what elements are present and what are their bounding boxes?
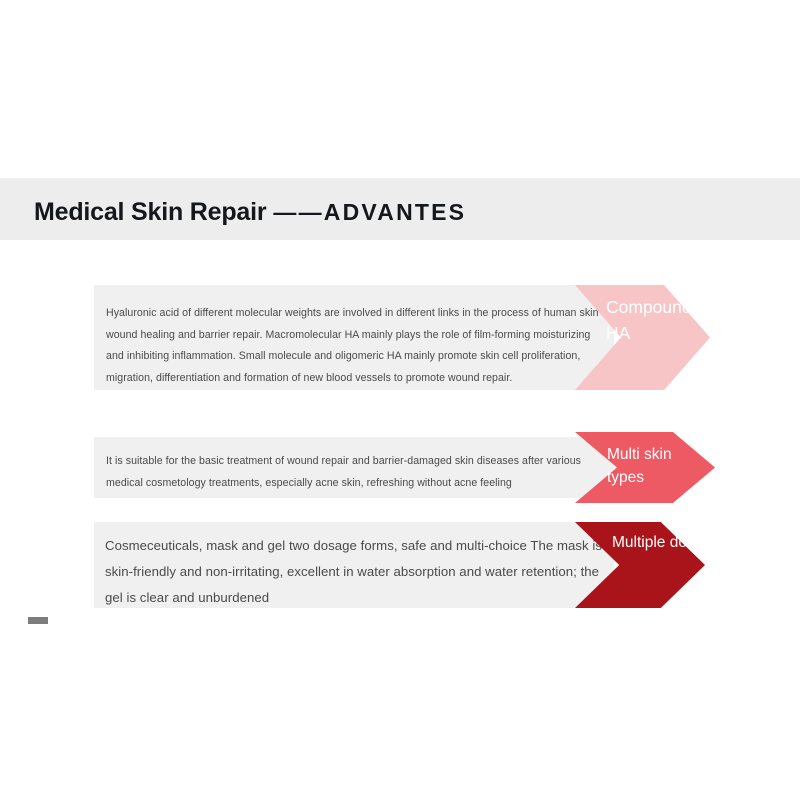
corner-mark — [28, 617, 48, 624]
advantage-text-box-1: Hyaluronic acid of different molecular w… — [94, 285, 614, 390]
advantage-row-1: Hyaluronic acid of different molecular w… — [94, 285, 710, 390]
advantage-body-3: Cosmeceuticals, mask and gel two dosage … — [105, 533, 604, 611]
advantage-body-2: It is suitable for the basic treatment o… — [106, 451, 600, 494]
arrow-label-2: Multi skin types — [607, 443, 687, 489]
advantage-text-box-2: It is suitable for the basic treatment o… — [94, 437, 614, 498]
advantage-body-1: Hyaluronic acid of different molecular w… — [106, 303, 600, 389]
page-title-subtitle: ——ADVANTES — [273, 199, 466, 225]
page-title-main: Medical Skin Repair — [34, 198, 266, 226]
advantage-text-box-3: Cosmeceuticals, mask and gel two dosage … — [94, 522, 614, 608]
advantage-row-2: It is suitable for the basic treatment o… — [94, 437, 715, 498]
page-title: Medical Skin Repair——ADVANTES — [34, 192, 466, 232]
arrow-label-1: Compound HA — [606, 294, 678, 346]
advantage-row-3: Cosmeceuticals, mask and gel two dosage … — [94, 522, 705, 608]
arrow-label-3: Multiple dosage form options — [612, 531, 704, 554]
slide-canvas: Medical Skin Repair——ADVANTES Hyaluronic… — [0, 0, 800, 800]
